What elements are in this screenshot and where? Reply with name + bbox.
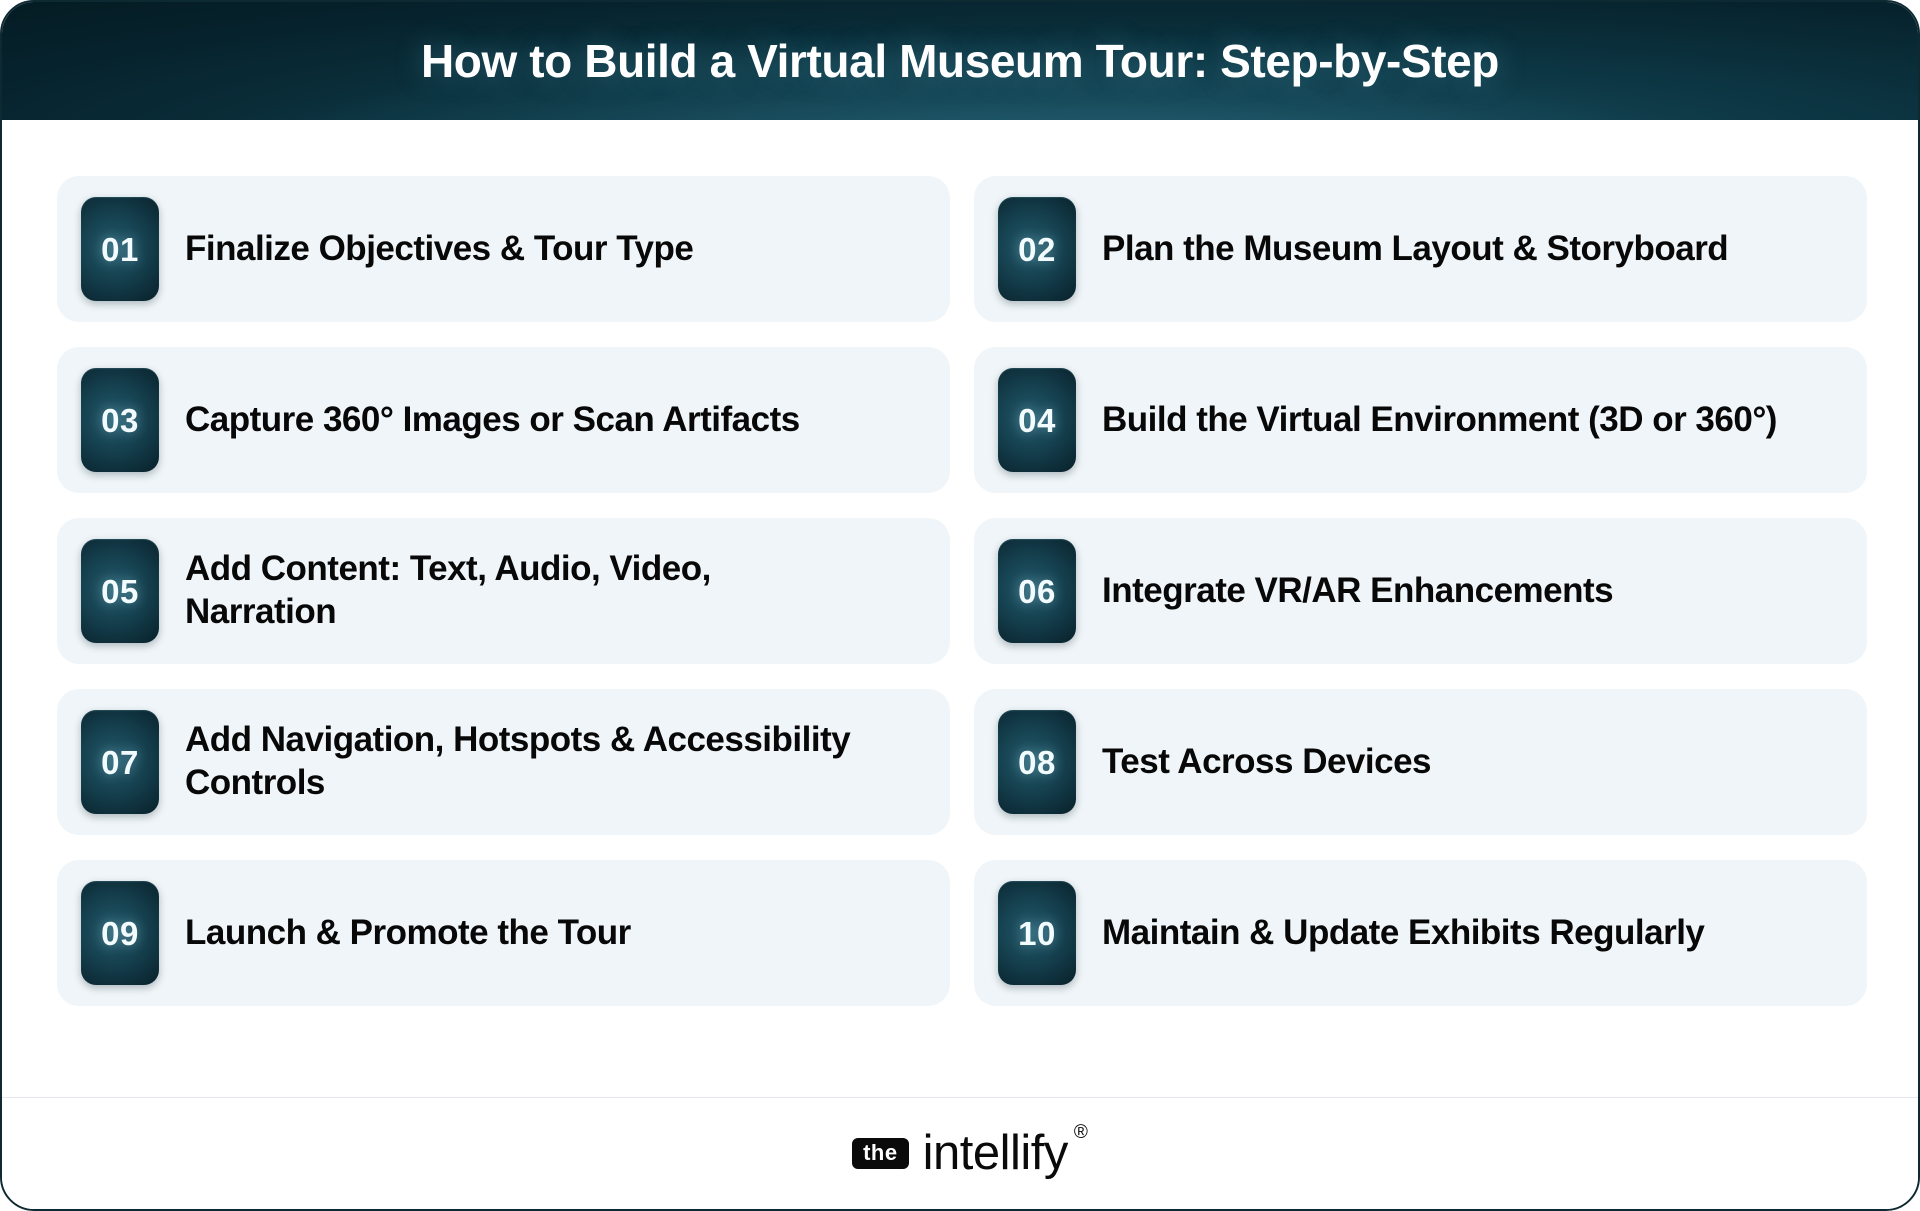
step-label-05: Add Content: Text, Audio, Video, Narrati… (185, 548, 785, 633)
step-number-badge-01: 01 (81, 197, 159, 301)
page-footer: the intellify ® (2, 1097, 1918, 1209)
step-label-09: Launch & Promote the Tour (185, 912, 631, 955)
step-card-03[interactable]: 03 Capture 360° Images or Scan Artifacts (57, 347, 950, 493)
step-number-03: 03 (101, 404, 139, 437)
registered-trademark-icon: ® (1074, 1123, 1088, 1142)
step-number-06: 06 (1018, 575, 1056, 608)
step-card-05[interactable]: 05 Add Content: Text, Audio, Video, Narr… (57, 518, 950, 664)
step-number-badge-04: 04 (998, 368, 1076, 472)
step-number-badge-10: 10 (998, 881, 1076, 985)
step-number-02: 02 (1018, 233, 1056, 266)
step-number-badge-05: 05 (81, 539, 159, 643)
step-card-07[interactable]: 07 Add Navigation, Hotspots & Accessibil… (57, 689, 950, 835)
step-number-04: 04 (1018, 404, 1056, 437)
step-label-04: Build the Virtual Environment (3D or 360… (1102, 399, 1777, 442)
step-number-badge-08: 08 (998, 710, 1076, 814)
steps-grid: 01 Finalize Objectives & Tour Type 02 Pl… (57, 176, 1863, 1006)
step-label-06: Integrate VR/AR Enhancements (1102, 570, 1613, 613)
step-label-03: Capture 360° Images or Scan Artifacts (185, 399, 800, 442)
page-title: How to Build a Virtual Museum Tour: Step… (421, 34, 1499, 88)
step-number-badge-06: 06 (998, 539, 1076, 643)
step-number-badge-09: 09 (81, 881, 159, 985)
infographic-page: How to Build a Virtual Museum Tour: Step… (0, 0, 1920, 1211)
step-number-badge-02: 02 (998, 197, 1076, 301)
step-card-02[interactable]: 02 Plan the Museum Layout & Storyboard (974, 176, 1867, 322)
step-label-02: Plan the Museum Layout & Storyboard (1102, 228, 1728, 271)
logo-wordmark: intellify (923, 1126, 1068, 1180)
step-label-08: Test Across Devices (1102, 741, 1431, 784)
step-card-10[interactable]: 10 Maintain & Update Exhibits Regularly (974, 860, 1867, 1006)
step-number-10: 10 (1018, 917, 1056, 950)
steps-section: 01 Finalize Objectives & Tour Type 02 Pl… (2, 120, 1918, 1097)
step-number-05: 05 (101, 575, 139, 608)
logo-wordmark-wrapper: intellify ® (923, 1129, 1068, 1178)
step-number-07: 07 (101, 746, 139, 779)
step-number-badge-03: 03 (81, 368, 159, 472)
step-card-01[interactable]: 01 Finalize Objectives & Tour Type (57, 176, 950, 322)
step-number-08: 08 (1018, 746, 1056, 779)
step-card-04[interactable]: 04 Build the Virtual Environment (3D or … (974, 347, 1867, 493)
step-number-badge-07: 07 (81, 710, 159, 814)
logo-the-badge: the (852, 1138, 909, 1169)
step-number-01: 01 (101, 233, 139, 266)
step-card-06[interactable]: 06 Integrate VR/AR Enhancements (974, 518, 1867, 664)
page-header: How to Build a Virtual Museum Tour: Step… (2, 2, 1918, 120)
step-card-09[interactable]: 09 Launch & Promote the Tour (57, 860, 950, 1006)
step-number-09: 09 (101, 917, 139, 950)
step-label-10: Maintain & Update Exhibits Regularly (1102, 912, 1704, 955)
step-card-08[interactable]: 08 Test Across Devices (974, 689, 1867, 835)
step-label-01: Finalize Objectives & Tour Type (185, 228, 693, 271)
brand-logo[interactable]: the intellify ® (852, 1129, 1068, 1178)
step-label-07: Add Navigation, Hotspots & Accessibility… (185, 719, 915, 804)
